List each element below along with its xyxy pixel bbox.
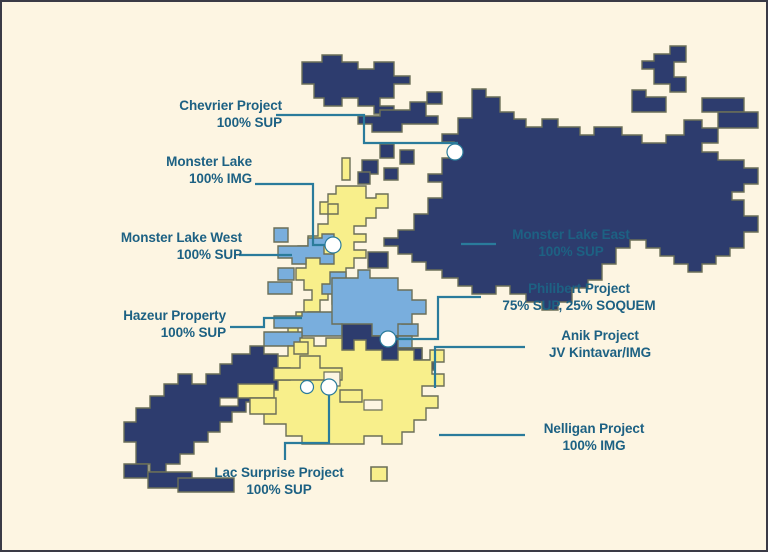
label-title: Philibert Project <box>484 280 674 297</box>
label-philibert-project[interactable]: Philibert Project 75% SUP, 25% SOQUEM <box>484 280 674 314</box>
claims-map-graphic <box>2 2 768 552</box>
label-title: Hazeur Property <box>92 307 226 324</box>
label-lac-surprise-project[interactable]: Lac Surprise Project 100% SUP <box>204 464 354 498</box>
label-chevrier-project[interactable]: Chevrier Project 100% SUP <box>152 97 282 131</box>
label-ownership: 75% SUP, 25% SOQUEM <box>484 297 674 314</box>
label-monster-lake[interactable]: Monster Lake 100% IMG <box>132 153 252 187</box>
label-hazeur-property[interactable]: Hazeur Property 100% SUP <box>92 307 226 341</box>
site-marker-lac-surprise[interactable] <box>301 381 314 394</box>
outlier-claim-square[interactable] <box>371 467 387 481</box>
label-title: Anik Project <box>530 327 670 344</box>
label-title: Monster Lake <box>132 153 252 170</box>
label-ownership: JV Kintavar/IMG <box>530 344 670 361</box>
label-ownership: 100% SUP <box>204 481 354 498</box>
label-anik-project[interactable]: Anik Project JV Kintavar/IMG <box>530 327 670 361</box>
leader-anik <box>435 347 525 388</box>
site-marker-philibert[interactable] <box>380 331 396 347</box>
label-ownership: 100% SUP <box>152 114 282 131</box>
site-marker-monster-lake[interactable] <box>325 237 341 253</box>
label-ownership: 100% SUP <box>94 246 242 263</box>
label-monster-lake-west[interactable]: Monster Lake West 100% SUP <box>94 229 242 263</box>
label-title: Nelligan Project <box>529 420 659 437</box>
site-marker-nelligan[interactable] <box>321 379 337 395</box>
label-title: Monster Lake East <box>496 226 646 243</box>
label-ownership: 100% IMG <box>132 170 252 187</box>
label-nelligan-project[interactable]: Nelligan Project 100% IMG <box>529 420 659 454</box>
label-monster-lake-east[interactable]: Monster Lake East 100% SUP <box>496 226 646 260</box>
label-ownership: 100% IMG <box>529 437 659 454</box>
map-figure: Chevrier Project 100% SUP Monster Lake 1… <box>0 0 768 552</box>
label-ownership: 100% SUP <box>496 243 646 260</box>
label-title: Monster Lake West <box>94 229 242 246</box>
site-marker-chevrier[interactable] <box>447 144 463 160</box>
label-title: Lac Surprise Project <box>204 464 354 481</box>
label-ownership: 100% SUP <box>92 324 226 341</box>
label-title: Chevrier Project <box>152 97 282 114</box>
